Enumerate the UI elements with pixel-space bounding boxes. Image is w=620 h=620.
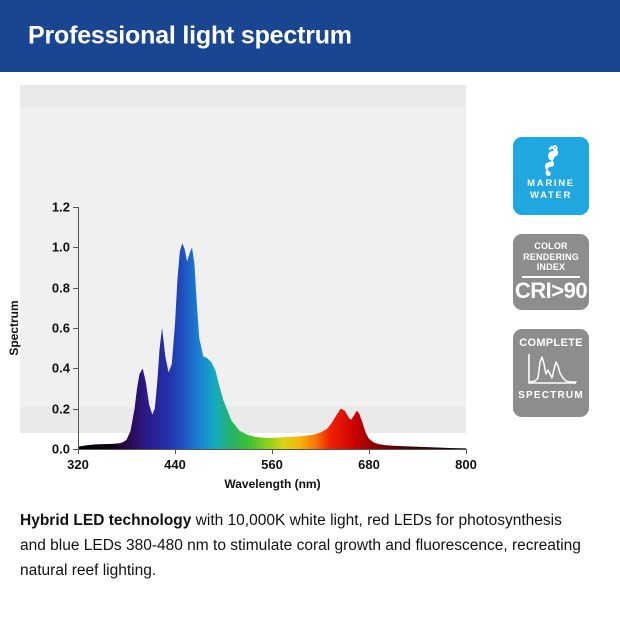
y-tick-label: 0.6: [26, 321, 70, 336]
y-tick-mark: [73, 409, 78, 410]
badge-cri-line-2: RENDERING: [523, 252, 579, 263]
badge-complete-spectrum[interactable]: COMPLETE SPECTRUM: [513, 329, 589, 417]
y-tick-mark: [73, 247, 78, 248]
y-tick-label: 0.4: [26, 361, 70, 376]
page-title: Professional light spectrum: [28, 22, 352, 51]
header-bar: Professional light spectrum: [0, 0, 620, 72]
badge-complete-bottom: SPECTRUM: [518, 390, 584, 402]
product-feature-card: Professional light spectrum: [0, 0, 620, 620]
x-tick-mark: [369, 449, 370, 454]
x-tick-label: 440: [164, 457, 186, 472]
spectrum-curve: [78, 207, 466, 449]
spectrum-figure: 0.00.20.40.60.81.01.2 320440560680800 Wa…: [20, 85, 466, 433]
y-axis-title: Spectrum: [7, 300, 21, 355]
x-tick-label: 320: [67, 457, 89, 472]
description-paragraph: Hybrid LED technology with 10,000K white…: [20, 508, 588, 583]
y-tick-mark: [73, 288, 78, 289]
seahorse-icon: [540, 144, 562, 178]
badge-cri-value: CRI>90: [515, 279, 587, 303]
x-tick-label: 800: [455, 457, 477, 472]
x-tick-mark: [466, 449, 467, 454]
badge-column: MARINE WATER COLOR RENDERING INDEX CRI>9…: [513, 137, 589, 436]
badge-marine-line-2: WATER: [530, 190, 572, 202]
badge-marine-water[interactable]: MARINE WATER: [513, 137, 589, 215]
description-lead: Hybrid LED technology: [20, 512, 191, 529]
plot-area: [78, 207, 466, 449]
x-tick-label: 680: [358, 457, 380, 472]
y-tick-label: 0.0: [26, 442, 70, 457]
y-tick-label: 0.8: [26, 280, 70, 295]
badge-marine-line-1: MARINE: [527, 178, 575, 190]
spectrum-curve-icon: [524, 352, 578, 388]
x-tick-mark: [272, 449, 273, 454]
y-tick-mark: [73, 207, 78, 208]
badge-cri-line-3: INDEX: [537, 262, 566, 273]
x-axis-title: Wavelength (nm): [78, 477, 467, 491]
badge-cri[interactable]: COLOR RENDERING INDEX CRI>90: [513, 234, 589, 310]
y-tick-label: 1.0: [26, 240, 70, 255]
y-tick-label: 0.2: [26, 401, 70, 416]
y-axis-line: [78, 207, 79, 450]
badge-complete-top: COMPLETE: [519, 337, 583, 350]
y-tick-mark: [73, 328, 78, 329]
x-tick-mark: [78, 449, 79, 454]
x-tick-label: 560: [261, 457, 283, 472]
badge-cri-line-1: COLOR: [534, 241, 568, 252]
y-tick-mark: [73, 368, 78, 369]
x-tick-mark: [175, 449, 176, 454]
y-tick-label: 1.2: [26, 200, 70, 215]
